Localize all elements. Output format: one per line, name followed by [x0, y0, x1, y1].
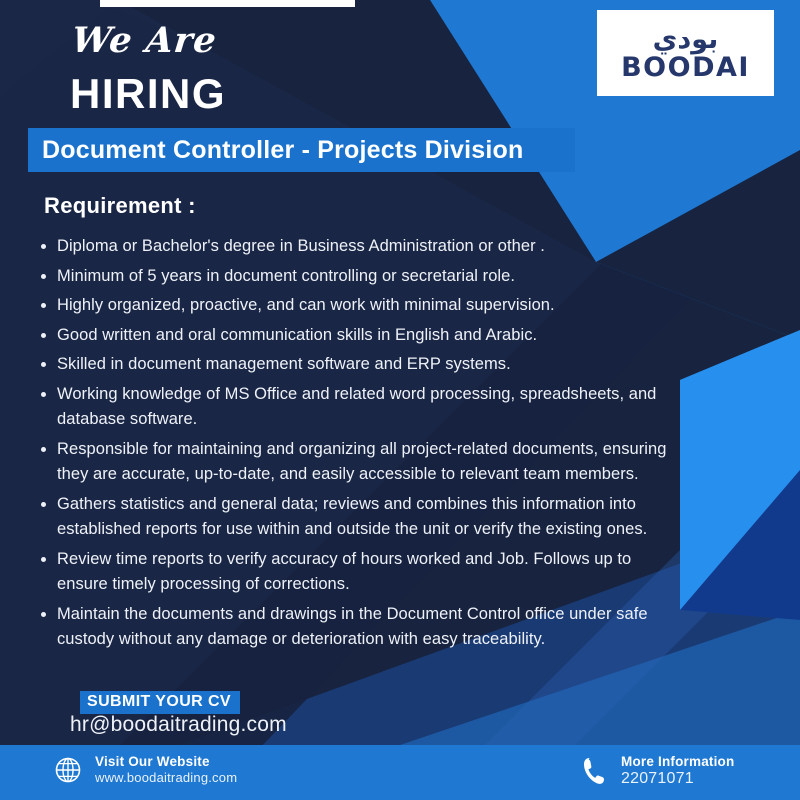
job-poster: بودي BOODAI We Are HIRING Document Contr…: [0, 0, 800, 800]
requirement-item: Responsible for maintaining and organizi…: [36, 437, 686, 488]
company-logo: بودي BOODAI: [597, 10, 774, 96]
footer-phone-number[interactable]: 22071071: [621, 770, 734, 789]
requirement-item: Minimum of 5 years in document controlli…: [36, 264, 686, 290]
logo-english-text: BOODAI: [621, 54, 750, 81]
cv-email-address[interactable]: hr@boodaitrading.com: [70, 713, 287, 737]
requirement-item: Review time reports to verify accuracy o…: [36, 547, 686, 598]
requirement-item: Diploma or Bachelor's degree in Business…: [36, 234, 686, 260]
top-white-strip: [100, 0, 355, 7]
headline-script: We Are: [70, 20, 219, 61]
requirement-list: Diploma or Bachelor's degree in Business…: [36, 234, 686, 657]
footer-website-url[interactable]: www.boodaitrading.com: [95, 770, 237, 785]
headline-hiring: HIRING: [70, 70, 226, 118]
requirement-item: Gathers statistics and general data; rev…: [36, 492, 686, 543]
job-title-text: Document Controller - Projects Division: [28, 136, 523, 165]
requirement-heading: Requirement :: [44, 193, 196, 219]
phone-icon: [578, 755, 610, 787]
footer-phone-title: More Information: [621, 754, 734, 770]
footer-website-title: Visit Our Website: [95, 754, 237, 770]
footer-phone-block[interactable]: More Information 22071071: [578, 754, 734, 789]
submit-cv-tag: SUBMIT YOUR CV: [80, 691, 240, 714]
footer-website-block[interactable]: Visit Our Website www.boodaitrading.com: [52, 754, 237, 786]
requirement-item: Maintain the documents and drawings in t…: [36, 602, 686, 653]
requirement-item: Skilled in document management software …: [36, 352, 686, 378]
requirement-item: Highly organized, proactive, and can wor…: [36, 293, 686, 319]
globe-icon: [52, 754, 84, 786]
requirement-item: Good written and oral communication skil…: [36, 323, 686, 349]
footer-bar: Visit Our Website www.boodaitrading.com …: [0, 745, 800, 800]
requirement-item: Working knowledge of MS Office and relat…: [36, 382, 686, 433]
job-title-banner: Document Controller - Projects Division: [28, 128, 575, 172]
logo-arabic-text: بودي: [653, 26, 719, 53]
